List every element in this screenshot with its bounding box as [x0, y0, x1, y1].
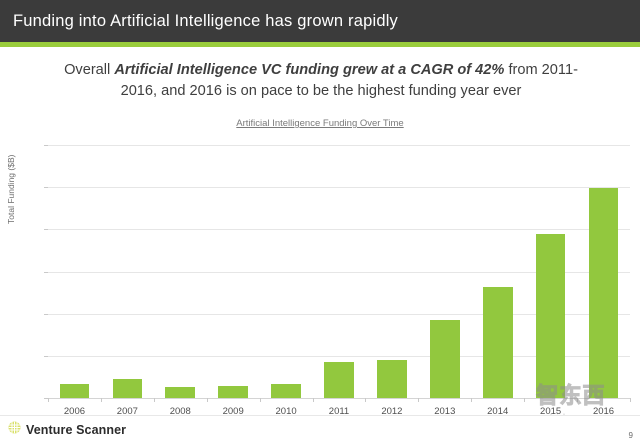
chart-title: Artificial Intelligence Funding Over Tim… [0, 118, 640, 129]
slide-footer: Venture Scanner 9 [0, 415, 640, 444]
plot-region: 00.511.522.53 20062007200820092010201120… [48, 145, 630, 398]
x-tick-mark [630, 398, 631, 402]
bar-2015 [536, 234, 566, 398]
brand-logo: Venture Scanner [0, 421, 126, 439]
x-tick-mark [101, 398, 102, 402]
x-tick-mark [48, 398, 49, 402]
y-axis-label: Total Funding ($B) [6, 210, 16, 224]
brand-name: Venture Scanner [26, 423, 126, 437]
x-tick-mark [577, 398, 578, 402]
subtitle-lead: Overall [64, 62, 114, 78]
page-number: 9 [629, 431, 633, 440]
gridline [48, 398, 630, 399]
bar-2010 [271, 384, 301, 398]
bar-2008 [165, 387, 195, 398]
x-tick-mark [418, 398, 419, 402]
slide-header: Funding into Artificial Intelligence has… [0, 0, 640, 42]
bars-layer [48, 145, 630, 398]
x-tick-mark [207, 398, 208, 402]
bar-2006 [60, 384, 90, 398]
bar-2011 [324, 362, 354, 398]
x-tick-mark [524, 398, 525, 402]
bar-2014 [483, 287, 513, 398]
x-tick-mark [313, 398, 314, 402]
bar-2016 [589, 188, 619, 398]
x-tick-mark [154, 398, 155, 402]
page-title: Funding into Artificial Intelligence has… [0, 12, 398, 31]
bar-2012 [377, 360, 407, 398]
bar-2007 [113, 379, 143, 398]
x-tick-mark [471, 398, 472, 402]
x-tick-mark [260, 398, 261, 402]
bar-2013 [430, 320, 460, 398]
globe-grid-icon [8, 421, 21, 439]
x-tick-mark [365, 398, 366, 402]
header-accent-bar [0, 42, 640, 47]
subtitle-text: Overall Artificial Intelligence VC fundi… [48, 60, 594, 103]
subtitle-emphasis: Artificial Intelligence VC funding grew … [114, 62, 504, 78]
bar-2009 [218, 386, 248, 398]
bar-chart: Artificial Intelligence Funding Over Tim… [0, 112, 640, 415]
